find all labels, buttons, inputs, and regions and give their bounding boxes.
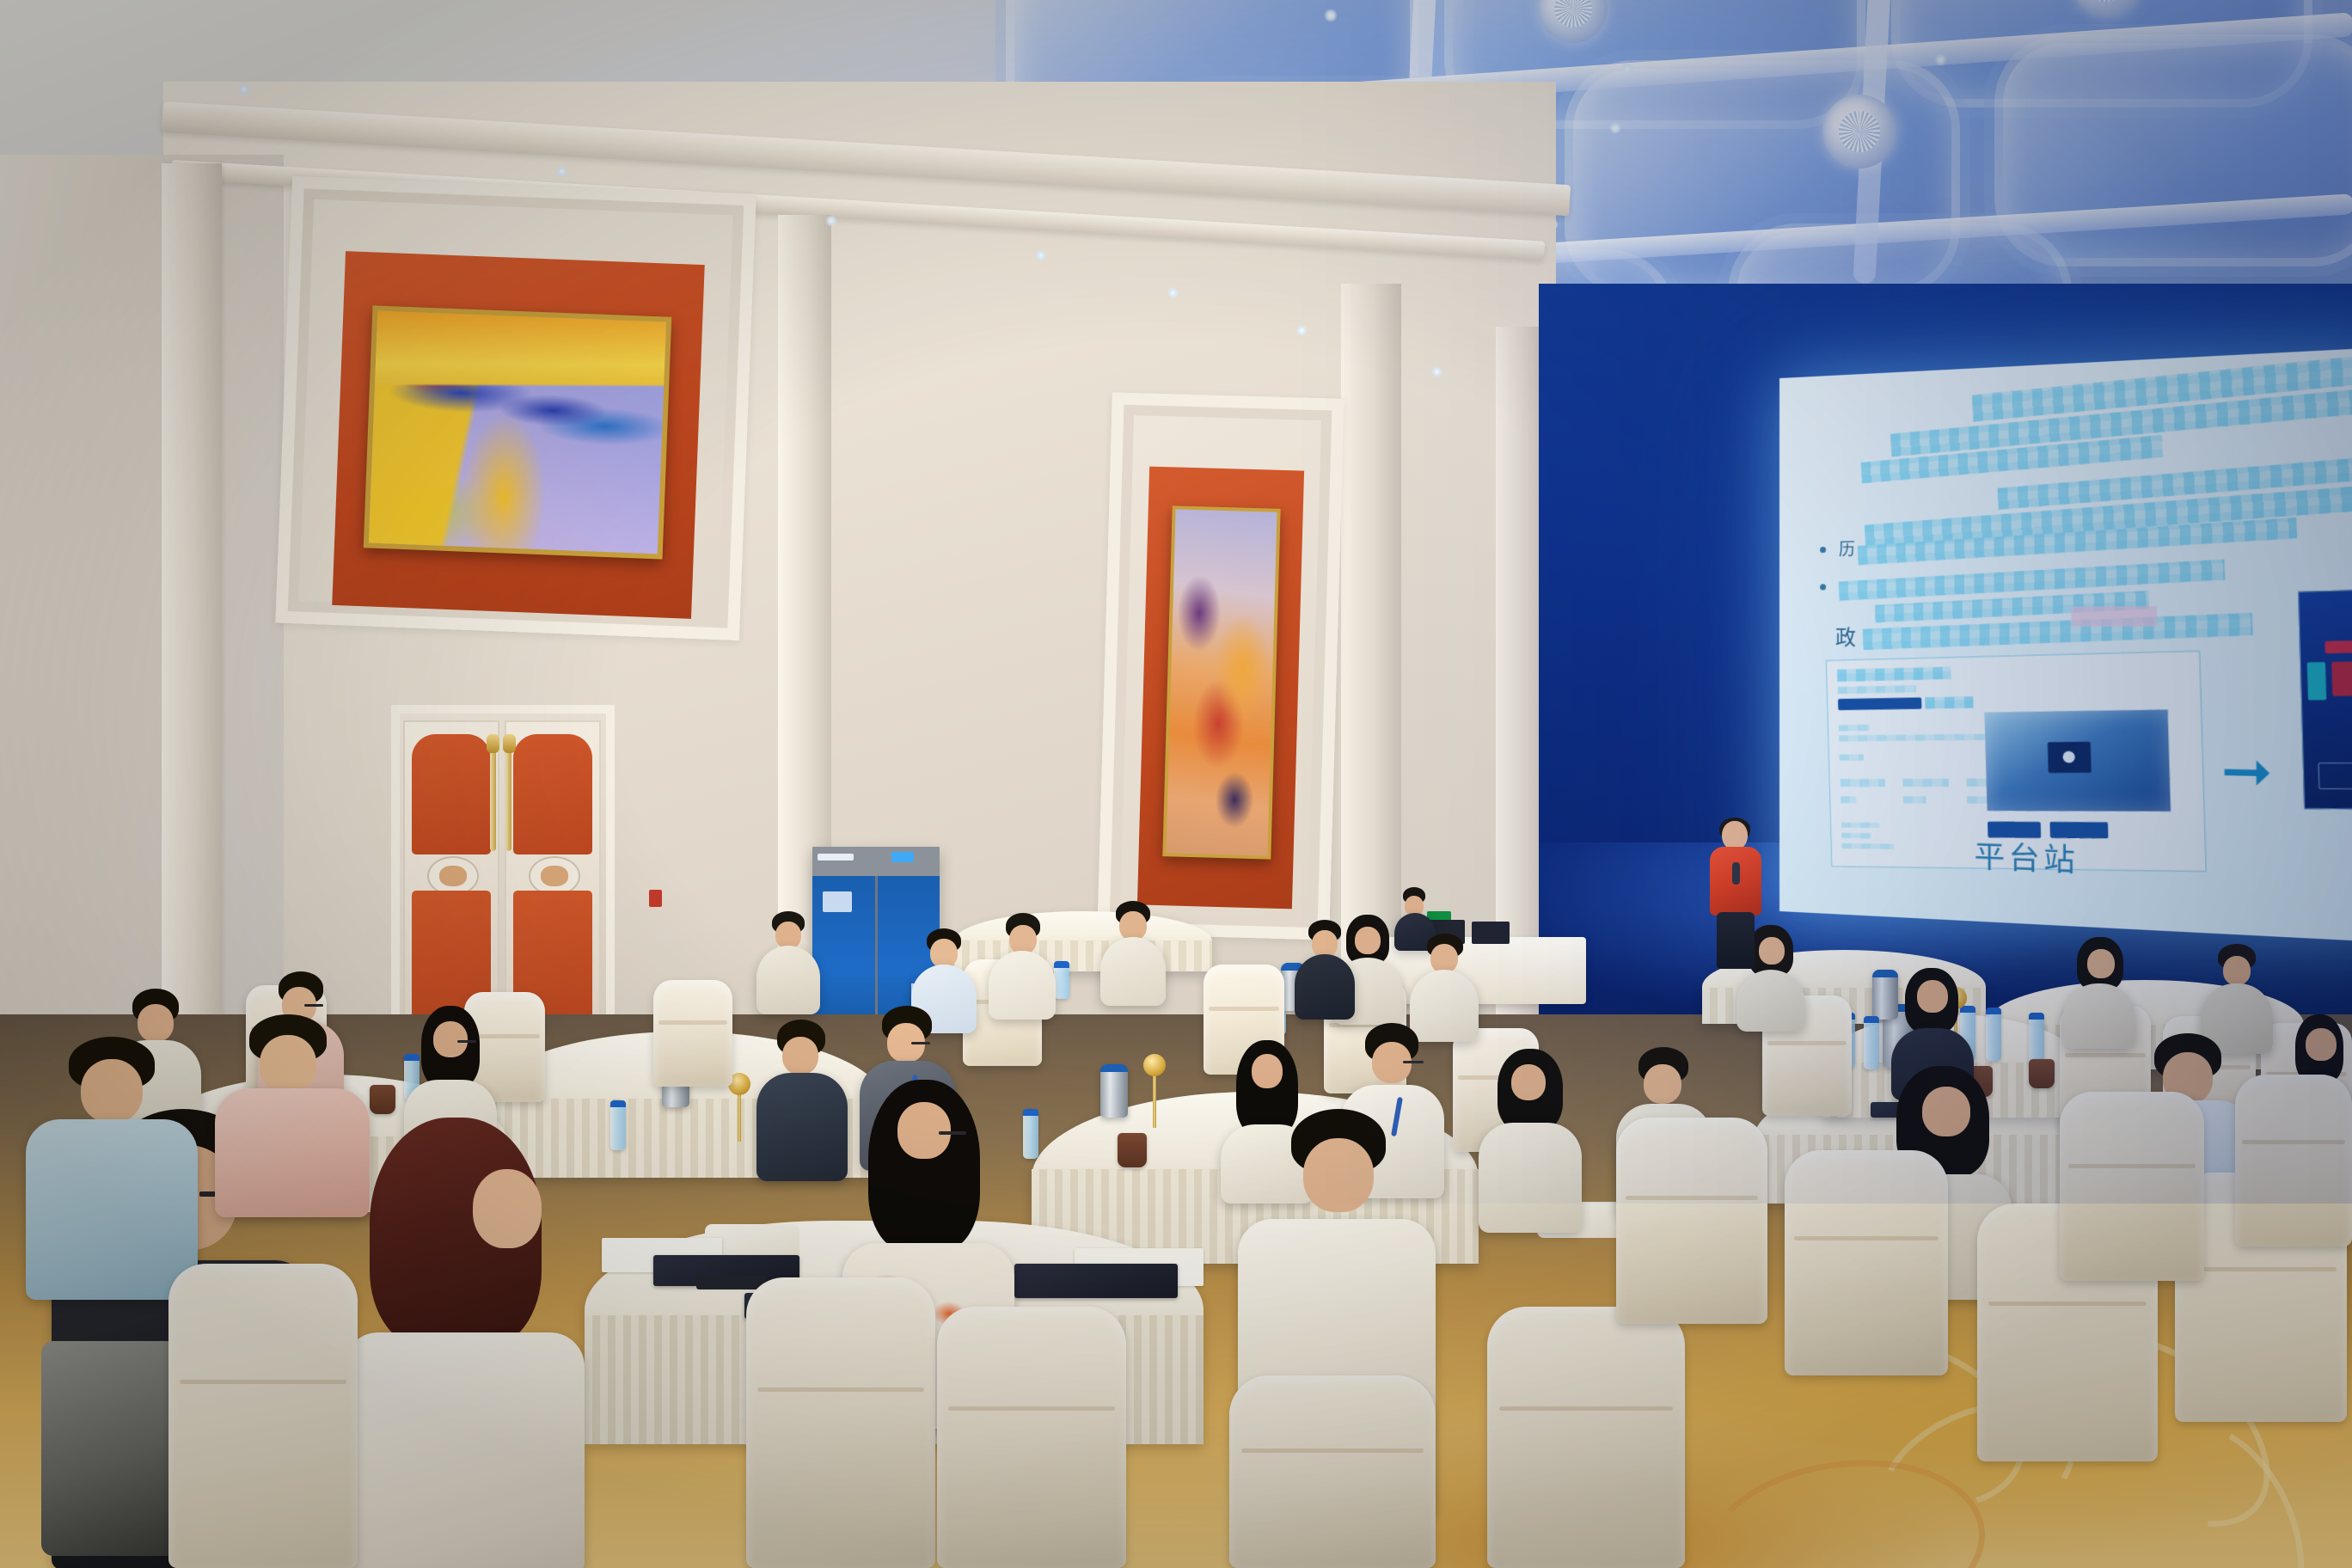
wall-downlight <box>555 165 568 178</box>
audience-member <box>989 913 1056 1016</box>
door-handle[interactable] <box>490 750 496 851</box>
door-medallion <box>530 858 579 894</box>
abstract-landscape-painting <box>364 305 672 559</box>
banquet-chair <box>2235 1075 2352 1246</box>
wall-downlight <box>1431 366 1442 377</box>
eyeglasses <box>304 1004 323 1007</box>
foreground-woman-white-blouse <box>344 1118 585 1568</box>
ceiling-downlight <box>1324 9 1338 22</box>
door-handle[interactable] <box>505 750 511 851</box>
banquet-chair <box>937 1307 1126 1568</box>
eyeglasses <box>939 1131 966 1135</box>
presenter <box>1706 821 1767 967</box>
fire-alarm-box <box>649 890 662 907</box>
slide-bullet-text: 历 <box>1839 536 1855 560</box>
slide-mobile-mockup <box>2298 587 2352 810</box>
projection-screen: 历 政 <box>1779 346 2352 943</box>
slide-bullet <box>1820 584 1826 590</box>
table-number-stand <box>729 1073 750 1142</box>
wall-downlight <box>1296 325 1308 336</box>
banquet-chair <box>1487 1307 1685 1568</box>
wall-downlight <box>1035 249 1047 261</box>
audience-member <box>756 911 820 1011</box>
wall-downlight <box>237 83 251 96</box>
ceiling-downlight <box>1620 62 1634 76</box>
banquet-chair <box>1229 1375 1436 1568</box>
slide-bullet <box>1820 547 1826 553</box>
eyeglasses <box>1403 1061 1424 1063</box>
leather-folder <box>1014 1264 1178 1298</box>
slide-caption: 平台站 <box>1974 832 2079 880</box>
gray-backpack <box>41 1341 179 1556</box>
audience-member <box>1479 1049 1582 1229</box>
ballroom-wall-left <box>0 155 284 1014</box>
audience-member <box>1295 920 1355 1016</box>
table-number-stand <box>1143 1054 1166 1128</box>
audience-member <box>2063 937 2135 1045</box>
audience-member-blue-shirt <box>26 1037 198 1295</box>
smartphone <box>696 1276 765 1289</box>
eyeglasses <box>911 1042 930 1044</box>
slide-heading-char: 政 <box>1835 621 1856 652</box>
banquet-chair <box>746 1277 935 1568</box>
banquet-chair <box>168 1264 358 1568</box>
wall-downlight <box>1167 287 1179 298</box>
door-knob[interactable] <box>487 734 499 753</box>
eyeglasses <box>457 1040 476 1043</box>
water-bottle <box>610 1100 626 1150</box>
water-bottle <box>1023 1109 1038 1159</box>
banquet-chair <box>653 980 732 1087</box>
abstract-vertical-painting <box>1162 505 1280 859</box>
door-knob[interactable] <box>503 734 516 753</box>
ceiling-downlight <box>1934 53 1947 66</box>
ceiling-downlight <box>1609 122 1621 134</box>
tea-cup <box>370 1085 395 1114</box>
thermos-flask <box>1100 1064 1128 1118</box>
audience-member-pink-shirt <box>215 1014 370 1212</box>
water-bottle <box>2029 1013 2044 1066</box>
audience-member <box>1100 901 1166 1002</box>
banquet-chair <box>1785 1150 1948 1375</box>
water-bottle <box>1054 961 1069 999</box>
tea-cup <box>2029 1059 2055 1088</box>
water-bottle <box>1986 1008 2001 1061</box>
audience-member <box>756 1020 848 1179</box>
tea-cup <box>1118 1133 1147 1167</box>
water-bottle <box>1864 1016 1879 1069</box>
wall-downlight <box>825 215 837 227</box>
conference-hall-photo: 历 政 <box>0 0 2352 1568</box>
banquet-chair <box>1616 1118 1767 1324</box>
arrow-right-icon: ➞ <box>2221 751 2273 792</box>
banquet-chair <box>2060 1092 2204 1281</box>
door-medallion <box>429 858 477 894</box>
wall-pilaster <box>162 163 222 1023</box>
ceiling-rosette <box>1822 95 1896 168</box>
black-skirt <box>1717 912 1755 969</box>
handheld-microphone <box>1732 862 1740 885</box>
